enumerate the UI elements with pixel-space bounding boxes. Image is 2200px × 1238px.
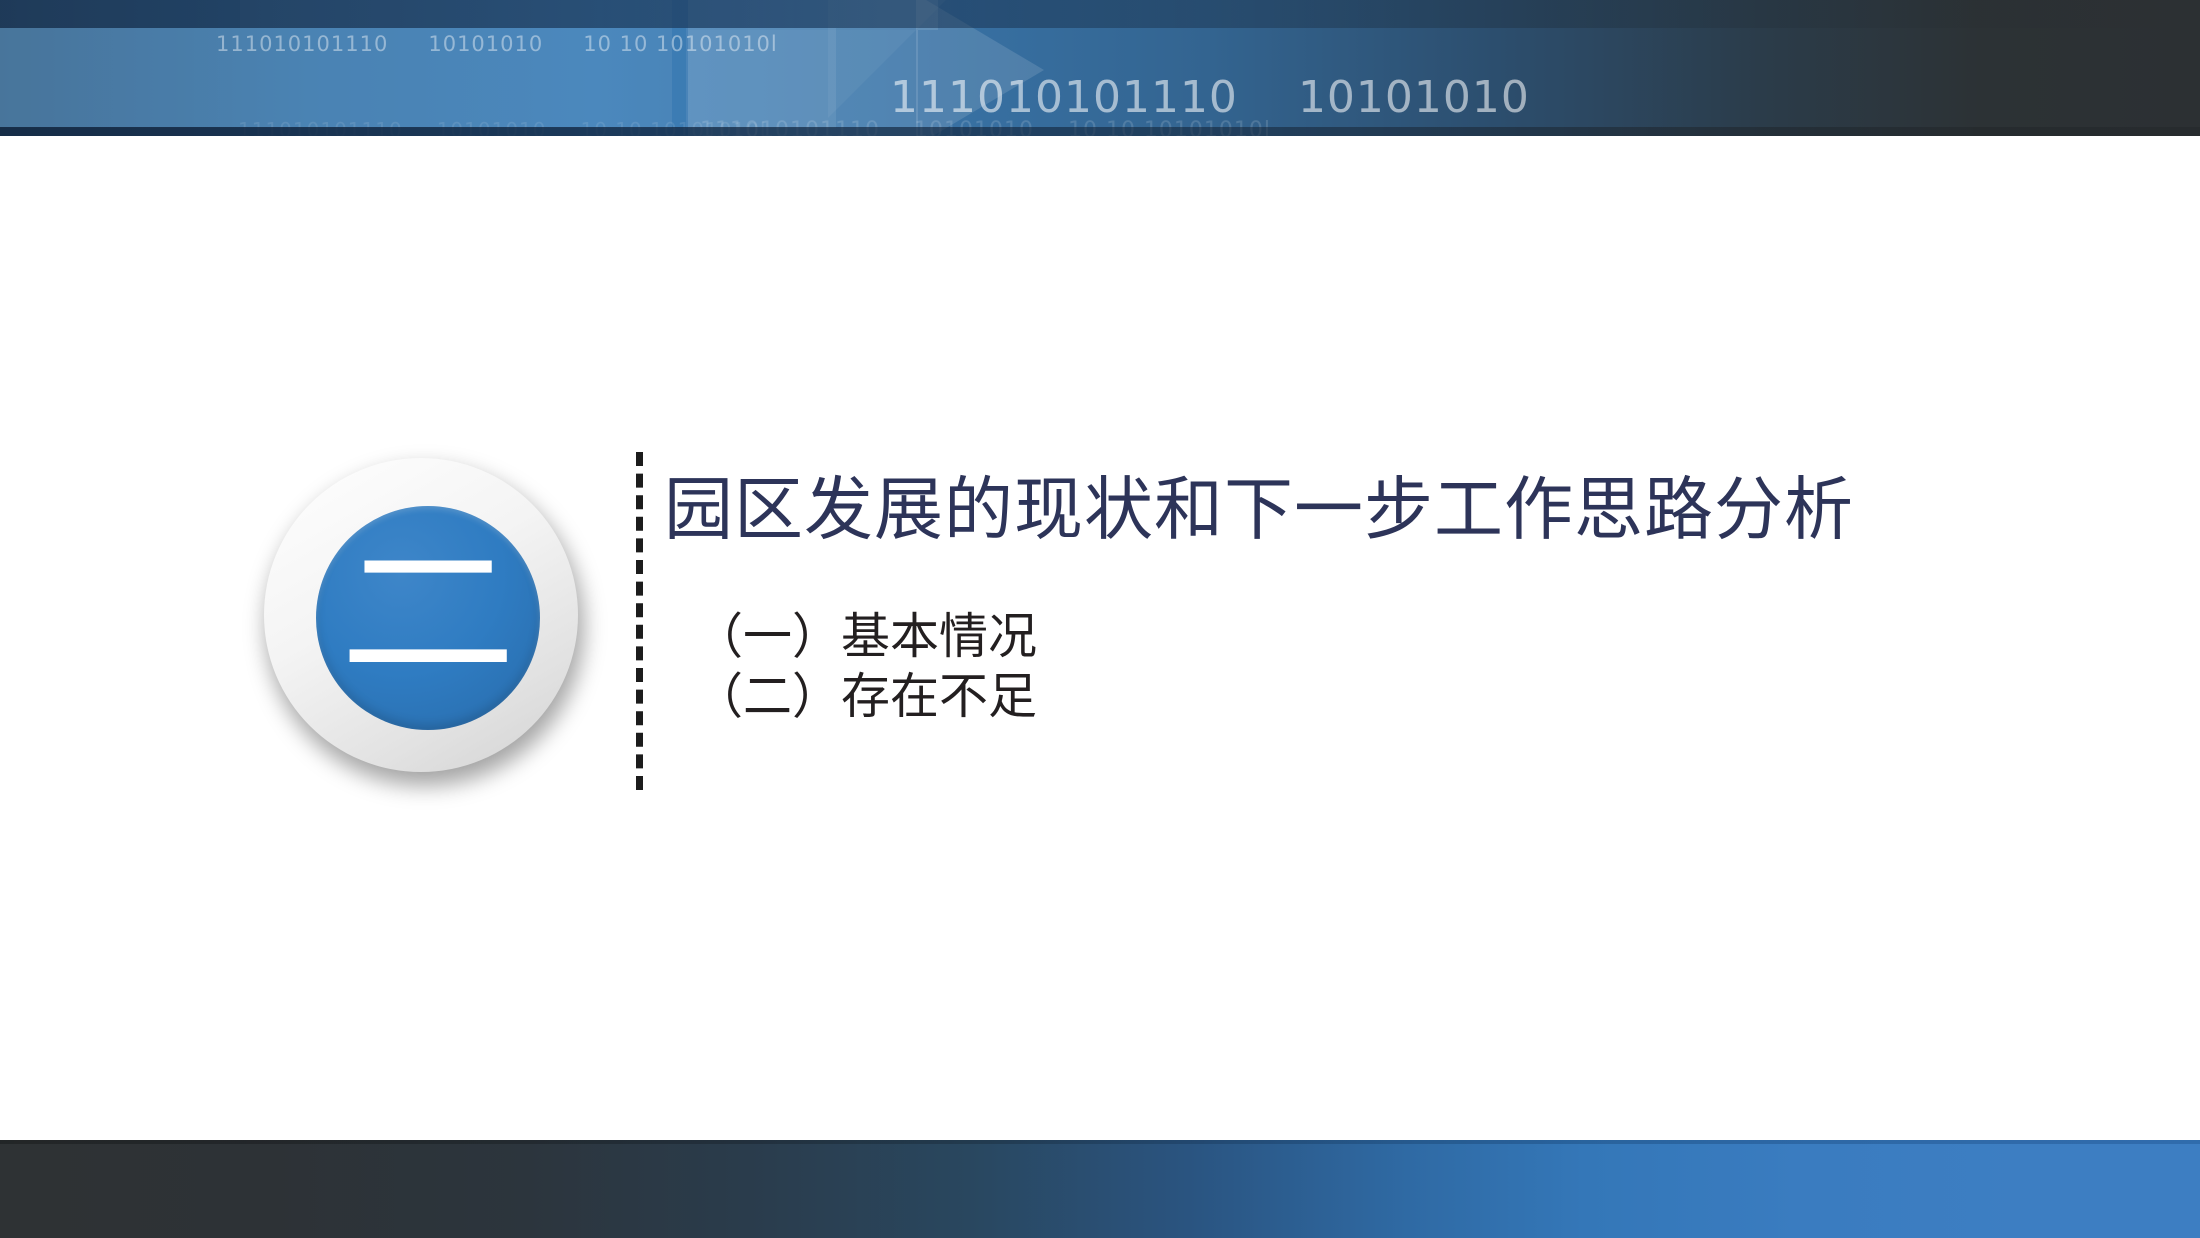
badge-outer-ring: 二 bbox=[264, 458, 578, 772]
header-binary-small-0: 111010101110 bbox=[216, 32, 388, 56]
vertical-dashed-divider bbox=[636, 452, 643, 790]
header-binary-text-large: 11101010111010101010 bbox=[890, 72, 1590, 123]
section-number-glyph: 二 bbox=[339, 539, 516, 689]
header-banner: 1110101011101010101010 10 10101010l 1110… bbox=[0, 0, 2200, 136]
list-item[interactable]: （一）基本情况 bbox=[694, 607, 1037, 667]
badge-inner-circle: 二 bbox=[316, 506, 540, 730]
header-top-strip bbox=[0, 0, 2200, 28]
footer-banner bbox=[0, 1140, 2200, 1238]
section-number-badge: 二 bbox=[258, 452, 594, 788]
slide-canvas: 1110101011101010101010 10 10101010l 1110… bbox=[0, 0, 2200, 1238]
section-subitem-list: （一）基本情况 （二）存在不足 bbox=[694, 607, 1037, 727]
header-binary-small-1: 10101010 bbox=[428, 32, 543, 56]
header-binary-text-small: 1110101011101010101010 10 10101010l bbox=[216, 32, 818, 56]
header-binary-small-2: 10 10 10101010l bbox=[583, 32, 778, 56]
header-baseline-rule bbox=[0, 127, 2200, 136]
footer-top-rule bbox=[0, 1140, 2200, 1144]
list-item[interactable]: （二）存在不足 bbox=[694, 667, 1037, 727]
header-binary-large-0: 111010101110 bbox=[890, 72, 1238, 123]
header-binary-large-1: 10101010 bbox=[1298, 72, 1530, 123]
section-title: 园区发展的现状和下一步工作思路分析 bbox=[664, 472, 1854, 549]
